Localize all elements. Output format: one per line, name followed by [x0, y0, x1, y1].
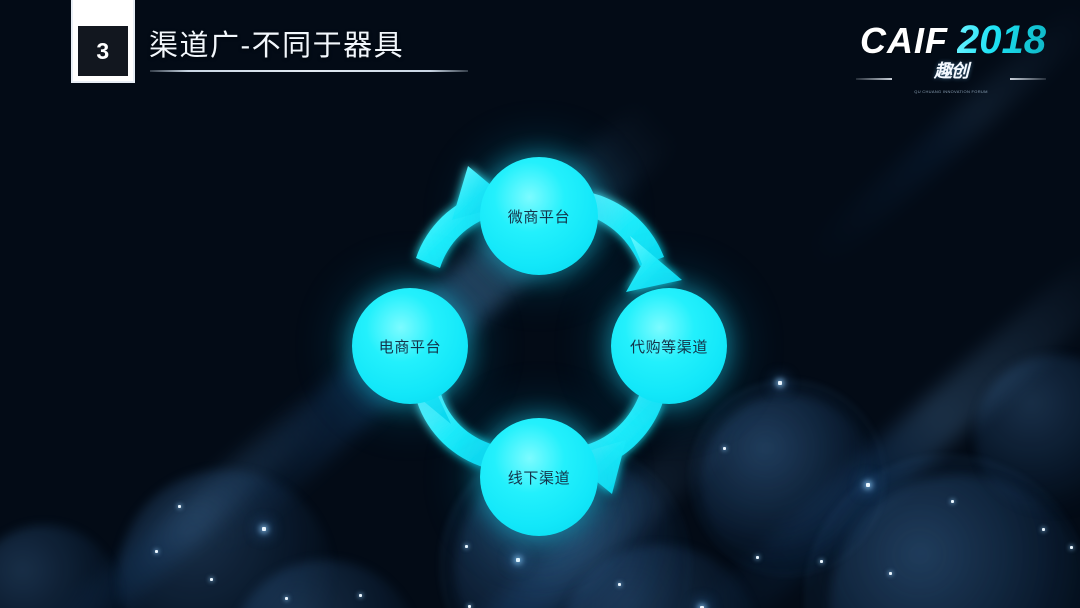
star-dot — [889, 572, 892, 575]
bubble-orb — [230, 560, 420, 608]
star-dot — [155, 550, 158, 553]
star-dot — [756, 556, 759, 559]
star-dot — [866, 483, 870, 487]
slide-header: 3 渠道广-不同于器具 CAIF 2018 趣创 QU CHUANG INNOV… — [0, 0, 1080, 110]
arrow-top-to-right — [584, 193, 682, 292]
cycle-node-left-label: 电商平台 — [379, 336, 441, 357]
cycle-node-bottom[interactable]: 线下渠道 — [480, 418, 598, 536]
bubble-orb — [560, 545, 760, 608]
page-title: 渠道广-不同于器具 — [149, 22, 404, 64]
channel-cycle-diagram: 微商平台 代购等渠道 线下渠道 电商平台 — [330, 140, 750, 520]
star-dot — [465, 545, 468, 548]
logo-sub-tagline: QU CHUANG INNOVATION FORUM — [914, 89, 987, 94]
cycle-node-bottom-label: 线下渠道 — [508, 467, 570, 488]
light-streak — [1, 385, 340, 608]
bubble-orb — [0, 525, 120, 608]
logo-sub-main-text: 趣创 — [934, 61, 968, 81]
logo-wordmark: CAIF 2018 — [856, 18, 1046, 63]
star-dot — [618, 583, 621, 586]
title-underline — [150, 70, 468, 72]
logo-year-text: 2018 — [957, 18, 1046, 63]
star-dot — [359, 594, 362, 597]
star-dot — [1070, 546, 1073, 549]
star-dot — [285, 597, 288, 600]
cycle-node-top[interactable]: 微商平台 — [480, 157, 598, 275]
bubble-orb — [975, 355, 1080, 515]
cycle-node-right-label: 代购等渠道 — [630, 336, 708, 357]
logo-brand-text: CAIF — [860, 20, 948, 62]
star-dot — [178, 505, 181, 508]
slide-number: 3 — [78, 26, 128, 76]
bubble-outline — [805, 455, 1080, 608]
bubble-orb — [118, 470, 333, 608]
star-dot — [820, 560, 823, 563]
slide-number-box: 3 — [71, 0, 135, 83]
bubble-orb — [830, 475, 1080, 608]
star-dot — [951, 500, 954, 503]
star-dot — [1042, 528, 1045, 531]
cycle-node-right[interactable]: 代购等渠道 — [611, 288, 727, 404]
logo-sub-group: 趣创 QU CHUANG INNOVATION FORUM — [899, 62, 1004, 97]
star-dot — [262, 527, 266, 531]
star-dot — [778, 381, 782, 385]
logo-dash-left — [856, 78, 892, 80]
star-dot — [516, 558, 520, 562]
logo-sublogo: 趣创 QU CHUANG INNOVATION FORUM — [856, 64, 1046, 94]
presentation-slide: 3 渠道广-不同于器具 CAIF 2018 趣创 QU CHUANG INNOV… — [0, 0, 1080, 608]
caif-logo: CAIF 2018 趣创 QU CHUANG INNOVATION FORUM — [856, 18, 1046, 96]
star-dot — [210, 578, 213, 581]
cycle-node-top-label: 微商平台 — [508, 206, 570, 227]
cycle-node-left[interactable]: 电商平台 — [352, 288, 468, 404]
logo-dash-right — [1010, 78, 1046, 80]
